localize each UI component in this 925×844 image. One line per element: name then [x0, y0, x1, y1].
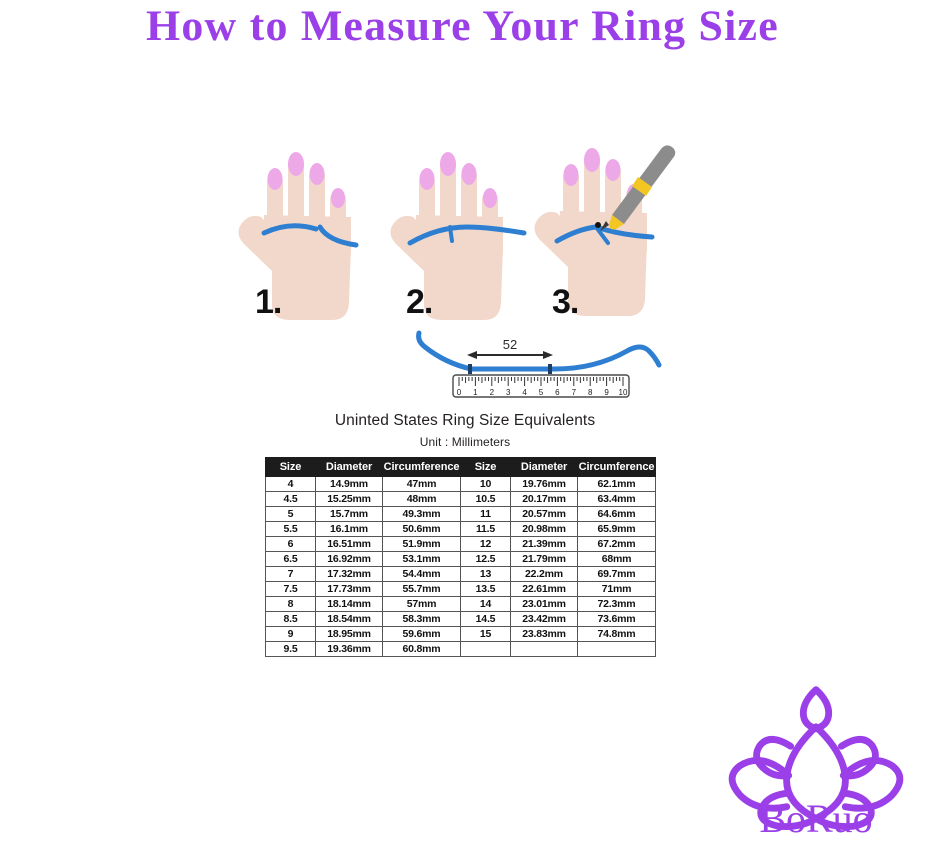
table-cell: [461, 642, 511, 657]
table-cell: 68mm: [578, 552, 656, 567]
hand-illustration-step-3: [516, 101, 711, 321]
table-cell: 21.79mm: [511, 552, 578, 567]
table-cell: 22.61mm: [511, 582, 578, 597]
table-cell: 74.8mm: [578, 627, 656, 642]
measuring-string-icon: [419, 333, 659, 369]
table-cell: 22.2mm: [511, 567, 578, 582]
ring-size-table: SizeDiameterCircumferenceSizeDiameterCir…: [265, 457, 656, 657]
table-row: 5.516.1mm50.6mm11.520.98mm65.9mm: [266, 522, 656, 537]
ruler-tick-label: 6: [555, 388, 560, 397]
table-cell: 12: [461, 537, 511, 552]
table-cell: 8: [266, 597, 316, 612]
ring-size-table-block: Uninted States Ring Size Equivalents Uni…: [265, 412, 665, 657]
ruler-tick-label: 2: [490, 388, 495, 397]
table-cell: 16.92mm: [316, 552, 383, 567]
fingernail-icon: [584, 148, 600, 172]
fingernail-icon: [440, 152, 456, 176]
step-number-2: 2.: [406, 283, 432, 322]
table-header-cell: Diameter: [316, 458, 383, 477]
ruler-tick-label: 8: [588, 388, 593, 397]
measuring-string-icon: [450, 227, 452, 241]
table-cell: 13: [461, 567, 511, 582]
table-cell: 6.5: [266, 552, 316, 567]
table-cell: 13.5: [461, 582, 511, 597]
table-row: 918.95mm59.6mm1523.83mm74.8mm: [266, 627, 656, 642]
table-unit-label: Unit : Millimeters: [265, 435, 665, 449]
fingernail-icon: [564, 164, 579, 186]
table-cell: 23.42mm: [511, 612, 578, 627]
table-cell: 14.9mm: [316, 477, 383, 492]
ruler-tick-label: 4: [522, 388, 527, 397]
string-mark-icon: [468, 364, 472, 374]
table-cell: 12.5: [461, 552, 511, 567]
fingernail-icon: [483, 188, 497, 208]
hand-illustration-step-1: [220, 105, 395, 320]
table-cell: 17.32mm: [316, 567, 383, 582]
table-cell: 18.54mm: [316, 612, 383, 627]
table-header-cell: Size: [461, 458, 511, 477]
ruler-tick-label: 3: [506, 388, 511, 397]
ruler-tick-label: 5: [539, 388, 544, 397]
table-header-cell: Circumference: [383, 458, 461, 477]
fingernail-icon: [606, 159, 621, 181]
table-cell: 20.98mm: [511, 522, 578, 537]
table-cell: 5: [266, 507, 316, 522]
table-cell: 4.5: [266, 492, 316, 507]
table-cell: 21.39mm: [511, 537, 578, 552]
table-cell: 60.8mm: [383, 642, 461, 657]
table-cell: 20.57mm: [511, 507, 578, 522]
ruler-tick-label: 0: [457, 388, 462, 397]
table-cell: 15.25mm: [316, 492, 383, 507]
table-cell: 53.1mm: [383, 552, 461, 567]
fingernail-icon: [331, 188, 345, 208]
table-cell: 4: [266, 477, 316, 492]
page-title: How to Measure Your Ring Size: [0, 2, 925, 51]
table-cell: 49.3mm: [383, 507, 461, 522]
fingernail-icon: [420, 168, 435, 190]
fingernail-icon: [310, 163, 325, 185]
table-cell: 51.9mm: [383, 537, 461, 552]
step-number-1: 1.: [255, 283, 281, 322]
table-cell: 67.2mm: [578, 537, 656, 552]
table-header-cell: Diameter: [511, 458, 578, 477]
table-cell: 71mm: [578, 582, 656, 597]
table-cell: 17.73mm: [316, 582, 383, 597]
table-cell: 69.7mm: [578, 567, 656, 582]
table-cell: 9: [266, 627, 316, 642]
table-cell: 18.95mm: [316, 627, 383, 642]
step-number-3: 3.: [552, 283, 578, 322]
table-cell: 50.6mm: [383, 522, 461, 537]
table-cell: 62.1mm: [578, 477, 656, 492]
ruler-tick-label: 9: [604, 388, 609, 397]
table-row: 414.9mm47mm1019.76mm62.1mm: [266, 477, 656, 492]
table-cell: 58.3mm: [383, 612, 461, 627]
table-cell: 9.5: [266, 642, 316, 657]
table-cell: 20.17mm: [511, 492, 578, 507]
table-cell: 16.51mm: [316, 537, 383, 552]
table-cell: 19.76mm: [511, 477, 578, 492]
table-header-row: SizeDiameterCircumferenceSizeDiameterCir…: [266, 458, 656, 477]
table-cell: 15.7mm: [316, 507, 383, 522]
table-cell: 65.9mm: [578, 522, 656, 537]
fingernail-icon: [268, 168, 283, 190]
table-row: 6.516.92mm53.1mm12.521.79mm68mm: [266, 552, 656, 567]
table-header-cell: Circumference: [578, 458, 656, 477]
table-cell: 10.5: [461, 492, 511, 507]
ruler-measurement-illustration: 52 012345678910: [415, 325, 695, 405]
table-cell: 15: [461, 627, 511, 642]
table-cell: 7.5: [266, 582, 316, 597]
table-row: 8.518.54mm58.3mm14.523.42mm73.6mm: [266, 612, 656, 627]
table-row: 717.32mm54.4mm1322.2mm69.7mm: [266, 567, 656, 582]
table-cell: 47mm: [383, 477, 461, 492]
brand-name: BoRuo: [718, 795, 914, 842]
table-cell: [578, 642, 656, 657]
table-cell: 5.5: [266, 522, 316, 537]
pencil-mark-icon: [595, 222, 601, 228]
table-cell: [511, 642, 578, 657]
table-cell: 23.83mm: [511, 627, 578, 642]
table-cell: 11: [461, 507, 511, 522]
arrow-head-left-icon: [467, 351, 477, 359]
table-cell: 16.1mm: [316, 522, 383, 537]
table-cell: 55.7mm: [383, 582, 461, 597]
table-cell: 7: [266, 567, 316, 582]
fingernail-icon: [462, 163, 477, 185]
string-mark-icon: [548, 364, 552, 374]
table-cell: 73.6mm: [578, 612, 656, 627]
table-cell: 14: [461, 597, 511, 612]
ruler-tick-label: 7: [572, 388, 577, 397]
table-row: 515.7mm49.3mm1120.57mm64.6mm: [266, 507, 656, 522]
ruler-tick-label: 10: [619, 388, 628, 397]
table-cell: 18.14mm: [316, 597, 383, 612]
table-cell: 8.5: [266, 612, 316, 627]
table-row: 9.519.36mm60.8mm: [266, 642, 656, 657]
table-cell: 72.3mm: [578, 597, 656, 612]
table-cell: 6: [266, 537, 316, 552]
table-row: 818.14mm57mm1423.01mm72.3mm: [266, 597, 656, 612]
table-cell: 48mm: [383, 492, 461, 507]
table-cell: 59.6mm: [383, 627, 461, 642]
table-cell: 63.4mm: [578, 492, 656, 507]
measurement-value: 52: [503, 337, 517, 352]
table-cell: 11.5: [461, 522, 511, 537]
arrow-head-right-icon: [543, 351, 553, 359]
fingernail-icon: [288, 152, 304, 176]
table-cell: 19.36mm: [316, 642, 383, 657]
table-cell: 64.6mm: [578, 507, 656, 522]
table-cell: 57mm: [383, 597, 461, 612]
table-row: 7.517.73mm55.7mm13.522.61mm71mm: [266, 582, 656, 597]
table-header-cell: Size: [266, 458, 316, 477]
table-cell: 54.4mm: [383, 567, 461, 582]
table-row: 4.515.25mm48mm10.520.17mm63.4mm: [266, 492, 656, 507]
table-cell: 23.01mm: [511, 597, 578, 612]
table-cell: 10: [461, 477, 511, 492]
table-cell: 14.5: [461, 612, 511, 627]
table-row: 616.51mm51.9mm1221.39mm67.2mm: [266, 537, 656, 552]
table-title: Uninted States Ring Size Equivalents: [265, 412, 665, 430]
ruler-tick-label: 1: [473, 388, 478, 397]
